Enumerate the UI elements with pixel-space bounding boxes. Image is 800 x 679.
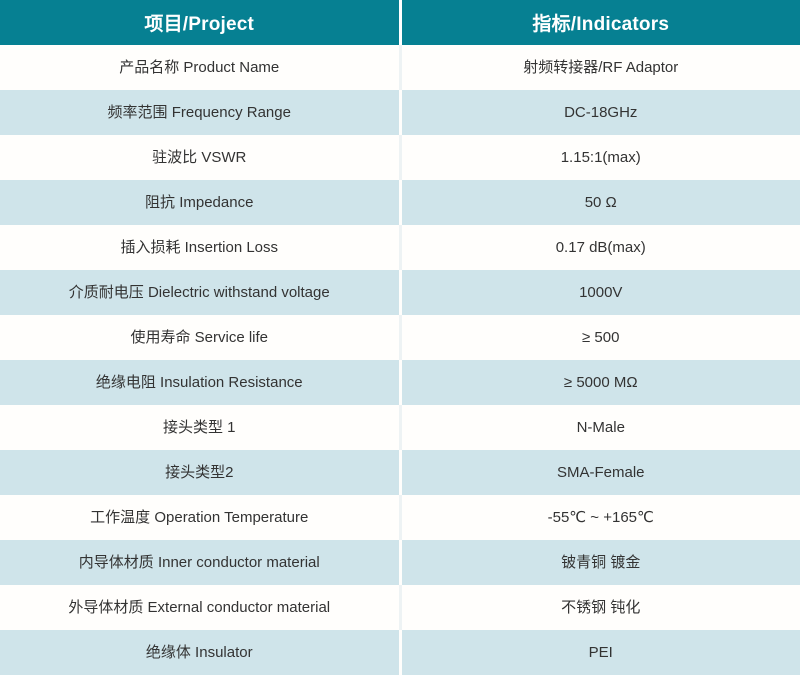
cell-project: 外导体材质 External conductor material	[0, 585, 400, 630]
cell-indicator: 射频转接器/RF Adaptor	[400, 45, 800, 90]
cell-project: 内导体材质 Inner conductor material	[0, 540, 400, 585]
cell-indicator: 1.15:1(max)	[400, 135, 800, 180]
cell-project: 产品名称 Product Name	[0, 45, 400, 90]
cell-indicator: 50 Ω	[400, 180, 800, 225]
table-row: 产品名称 Product Name射频转接器/RF Adaptor	[0, 45, 800, 90]
table-row: 外导体材质 External conductor material不锈钢 钝化	[0, 585, 800, 630]
table-header: 项目/Project 指标/Indicators	[0, 0, 800, 45]
specification-table: 项目/Project 指标/Indicators 产品名称 Product Na…	[0, 0, 800, 675]
table-row: 内导体材质 Inner conductor material铍青铜 镀金	[0, 540, 800, 585]
table-row: 绝缘体 InsulatorPEI	[0, 630, 800, 675]
table-row: 接头类型 1N-Male	[0, 405, 800, 450]
cell-indicator: 1000V	[400, 270, 800, 315]
cell-project: 介质耐电压 Dielectric withstand voltage	[0, 270, 400, 315]
cell-project: 阻抗 Impedance	[0, 180, 400, 225]
cell-indicator: N-Male	[400, 405, 800, 450]
cell-indicator: -55℃ ~ +165℃	[400, 495, 800, 540]
header-row: 项目/Project 指标/Indicators	[0, 0, 800, 45]
table-row: 工作温度 Operation Temperature-55℃ ~ +165℃	[0, 495, 800, 540]
cell-project: 使用寿命 Service life	[0, 315, 400, 360]
column-header-indicator: 指标/Indicators	[400, 0, 800, 45]
table-row: 接头类型2SMA-Female	[0, 450, 800, 495]
table-row: 阻抗 Impedance50 Ω	[0, 180, 800, 225]
cell-project: 频率范围 Frequency Range	[0, 90, 400, 135]
column-header-project: 项目/Project	[0, 0, 400, 45]
cell-project: 绝缘体 Insulator	[0, 630, 400, 675]
cell-indicator: PEI	[400, 630, 800, 675]
table-row: 插入损耗 Insertion Loss0.17 dB(max)	[0, 225, 800, 270]
cell-project: 接头类型 1	[0, 405, 400, 450]
table-body: 产品名称 Product Name射频转接器/RF Adaptor频率范围 Fr…	[0, 45, 800, 675]
cell-project: 绝缘电阻 Insulation Resistance	[0, 360, 400, 405]
cell-project: 插入损耗 Insertion Loss	[0, 225, 400, 270]
cell-indicator: SMA-Female	[400, 450, 800, 495]
cell-indicator: DC-18GHz	[400, 90, 800, 135]
cell-indicator: 铍青铜 镀金	[400, 540, 800, 585]
table-row: 使用寿命 Service life≥ 500	[0, 315, 800, 360]
table-row: 驻波比 VSWR1.15:1(max)	[0, 135, 800, 180]
cell-indicator: ≥ 500	[400, 315, 800, 360]
table-row: 介质耐电压 Dielectric withstand voltage1000V	[0, 270, 800, 315]
table-row: 绝缘电阻 Insulation Resistance≥ 5000 MΩ	[0, 360, 800, 405]
table-row: 频率范围 Frequency RangeDC-18GHz	[0, 90, 800, 135]
cell-indicator: ≥ 5000 MΩ	[400, 360, 800, 405]
cell-indicator: 0.17 dB(max)	[400, 225, 800, 270]
cell-project: 工作温度 Operation Temperature	[0, 495, 400, 540]
cell-project: 驻波比 VSWR	[0, 135, 400, 180]
cell-project: 接头类型2	[0, 450, 400, 495]
cell-indicator: 不锈钢 钝化	[400, 585, 800, 630]
